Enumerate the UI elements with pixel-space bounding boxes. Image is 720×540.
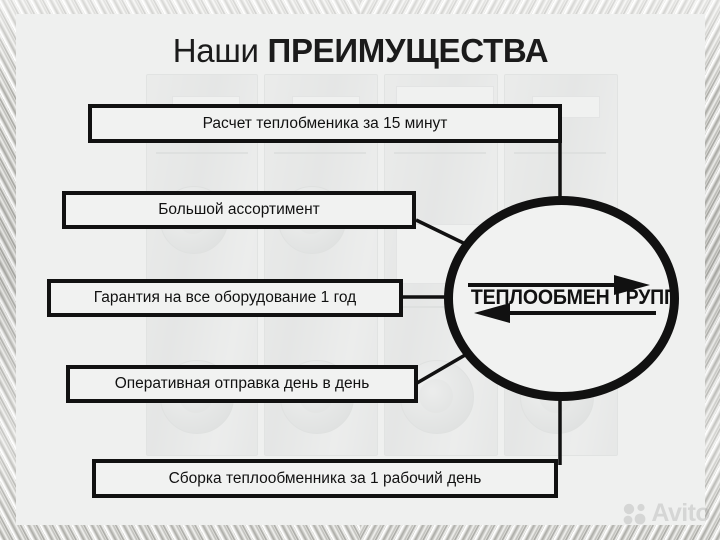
feature-label-1: Расчет теплобменика за 15 минут [203,116,448,132]
avito-watermark: Avito [622,499,710,528]
feature-box-2[interactable]: Большой ассортимент [62,191,416,229]
logo-text: ТЕПЛООБМЕН ГРУПП [470,286,652,310]
feature-box-5[interactable]: Сборка теплообменника за 1 рабочий день [92,459,558,498]
page-title-light: Наши [173,32,268,69]
slide-canvas: Наши ПРЕИМУЩЕСТВА Расчет теплобменика за… [0,0,720,540]
feature-box-4[interactable]: Оперативная отправка день в день [66,365,418,403]
avito-dots-icon [622,503,648,525]
feature-label-4: Оперативная отправка день в день [115,376,370,392]
content-card: Наши ПРЕИМУЩЕСТВА Расчет теплобменика за… [16,14,705,525]
feature-box-1[interactable]: Расчет теплобменика за 15 минут [88,104,562,143]
page-title: Наши ПРЕИМУЩЕСТВА [16,32,705,70]
page-title-bold: ПРЕИМУЩЕСТВА [268,32,549,69]
feature-label-5: Сборка теплообменника за 1 рабочий день [169,471,482,487]
feature-label-3: Гарантия на все оборудование 1 год [94,290,356,306]
logo-mark: ТЕПЛООБМЕН ГРУПП [464,272,660,326]
feature-label-2: Большой ассортимент [158,202,319,218]
avito-wordmark: Avito [651,499,710,528]
feature-box-3[interactable]: Гарантия на все оборудование 1 год [47,279,403,317]
company-logo[interactable]: ТЕПЛООБМЕН ГРУПП [444,196,679,401]
